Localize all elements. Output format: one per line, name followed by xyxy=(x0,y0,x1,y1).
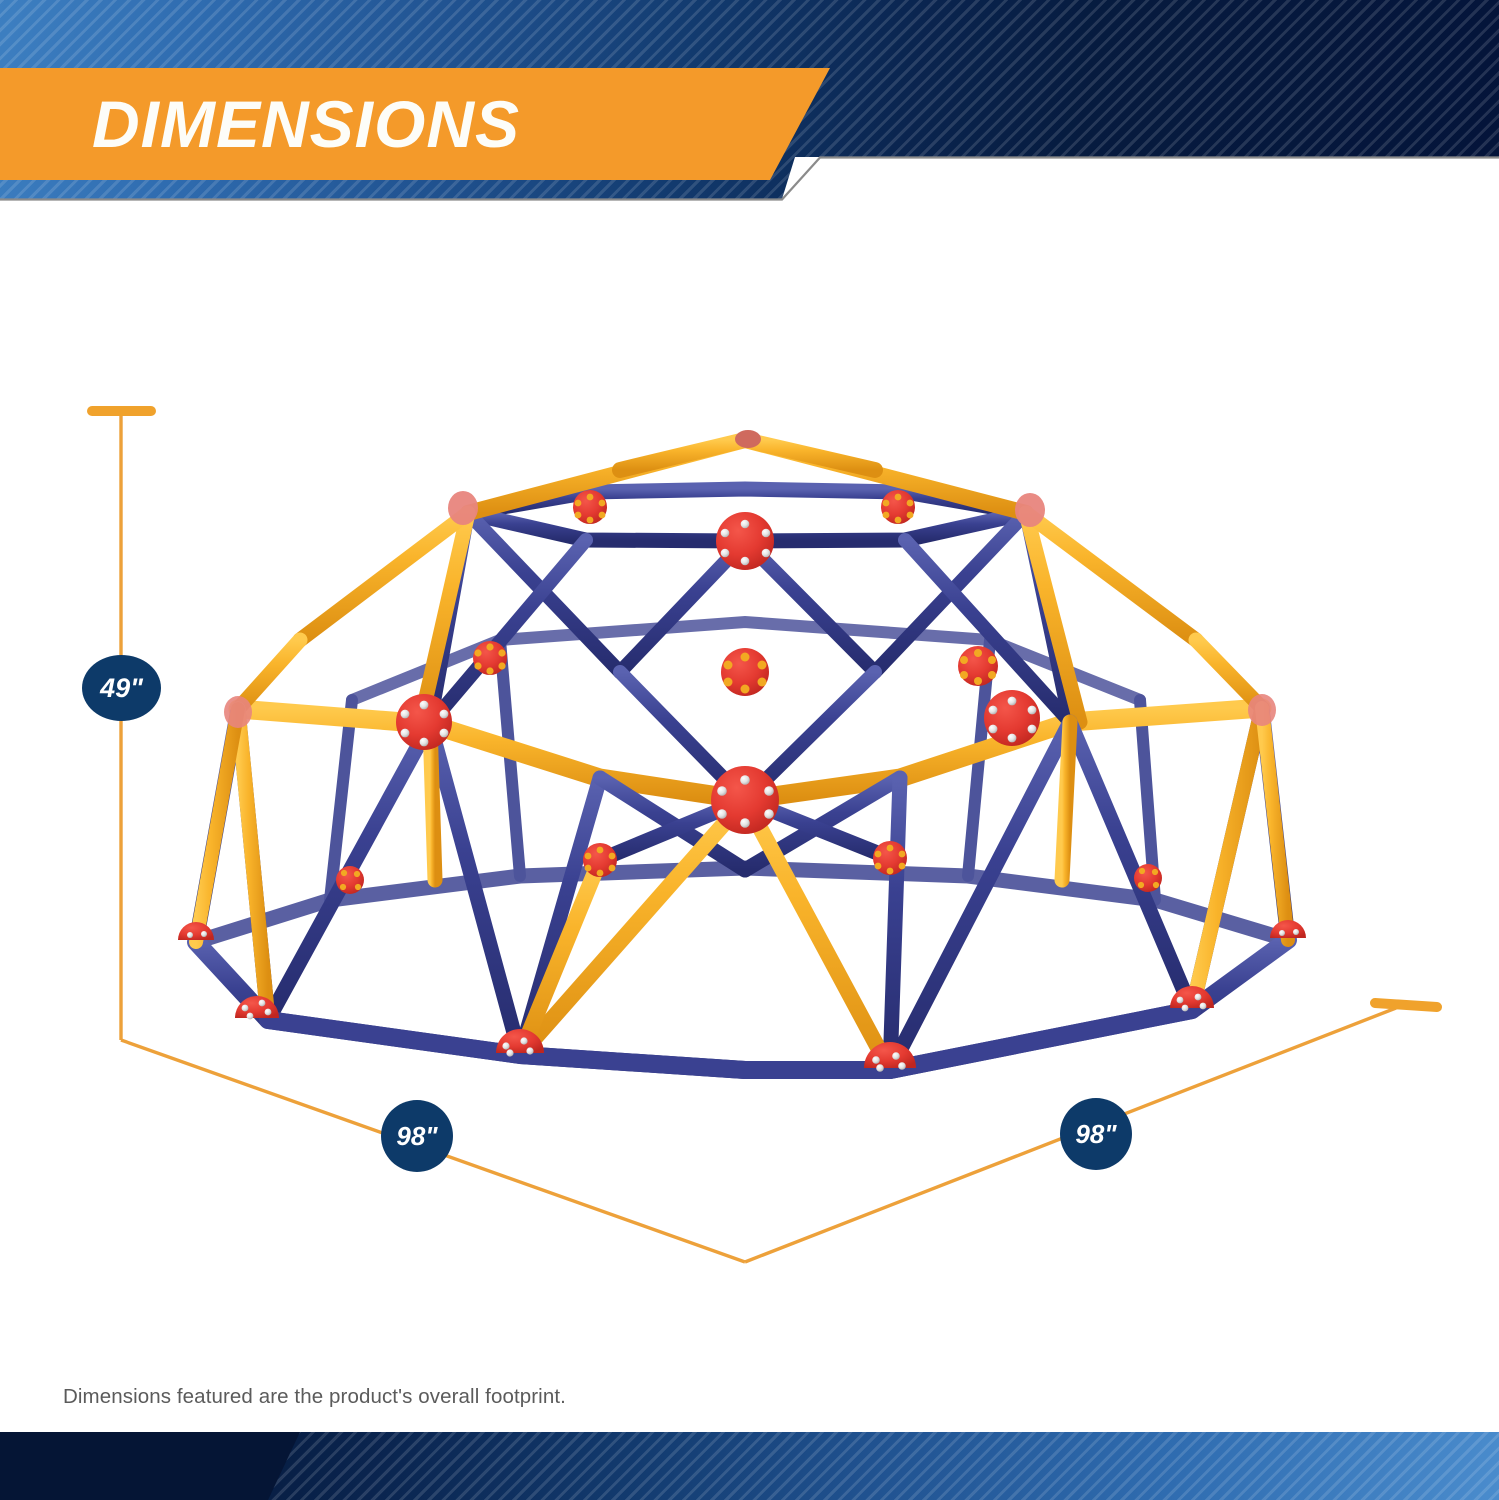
dome-climber xyxy=(178,430,1306,1072)
hub xyxy=(873,841,907,875)
hub xyxy=(396,694,452,750)
product-diagram xyxy=(0,0,1499,1500)
hub xyxy=(711,766,779,834)
width-right-dimension-badge: 98" xyxy=(1060,1098,1132,1170)
apex-yellow-ribs xyxy=(468,440,1026,800)
hub xyxy=(881,490,915,524)
width-left-dimension-badge: 98" xyxy=(381,1100,453,1172)
base-hub xyxy=(1270,920,1306,938)
hub xyxy=(1134,864,1162,892)
footer-dark-accent xyxy=(0,1432,300,1500)
height-dimension-badge: 49" xyxy=(82,655,161,721)
dimensions-infographic: DIMENSIONS xyxy=(0,0,1499,1500)
width-right-tick xyxy=(1375,1003,1437,1007)
hub xyxy=(958,646,998,686)
footnote-caption: Dimensions featured are the product's ov… xyxy=(63,1385,566,1409)
hub xyxy=(984,690,1040,746)
hub xyxy=(583,843,617,877)
base-hub xyxy=(178,922,214,940)
hub xyxy=(721,648,769,696)
hub xyxy=(716,512,774,570)
hub xyxy=(473,641,507,675)
base-ring-front xyxy=(196,940,1288,1070)
hub xyxy=(336,866,364,894)
footer-banner xyxy=(0,1432,1499,1500)
hub xyxy=(573,490,607,524)
